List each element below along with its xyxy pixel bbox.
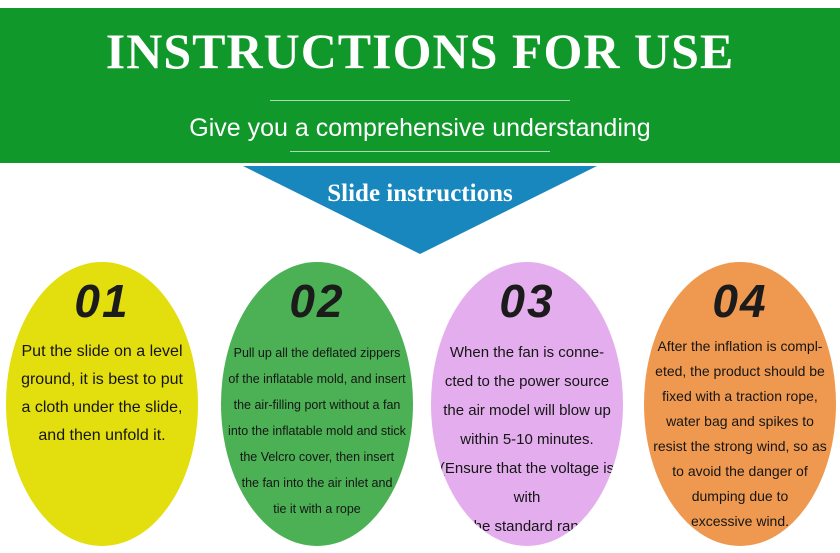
step-number: 04 <box>644 276 836 326</box>
step-text: When the fan is conne-cted to the power … <box>437 338 617 541</box>
instructions-infographic: INSTRUCTIONS FOR USE Give you a comprehe… <box>0 0 840 553</box>
step-text: After the inflation is compl-eted, the p… <box>652 334 828 534</box>
step-text: Pull up all the deflated zippersof the i… <box>227 340 407 522</box>
step-number: 02 <box>221 276 413 326</box>
step-number: 01 <box>6 276 198 326</box>
steps-group: 01 Put the slide on a levelground, it is… <box>0 0 840 553</box>
step-card-02: 02 Pull up all the deflated zippersof th… <box>221 262 413 546</box>
step-card-01: 01 Put the slide on a levelground, it is… <box>6 262 198 546</box>
step-card-03: 03 When the fan is conne-cted to the pow… <box>431 262 623 546</box>
step-number: 03 <box>431 276 623 326</box>
step-card-04: 04 After the inflation is compl-eted, th… <box>644 262 836 546</box>
step-text: Put the slide on a levelground, it is be… <box>16 338 188 450</box>
